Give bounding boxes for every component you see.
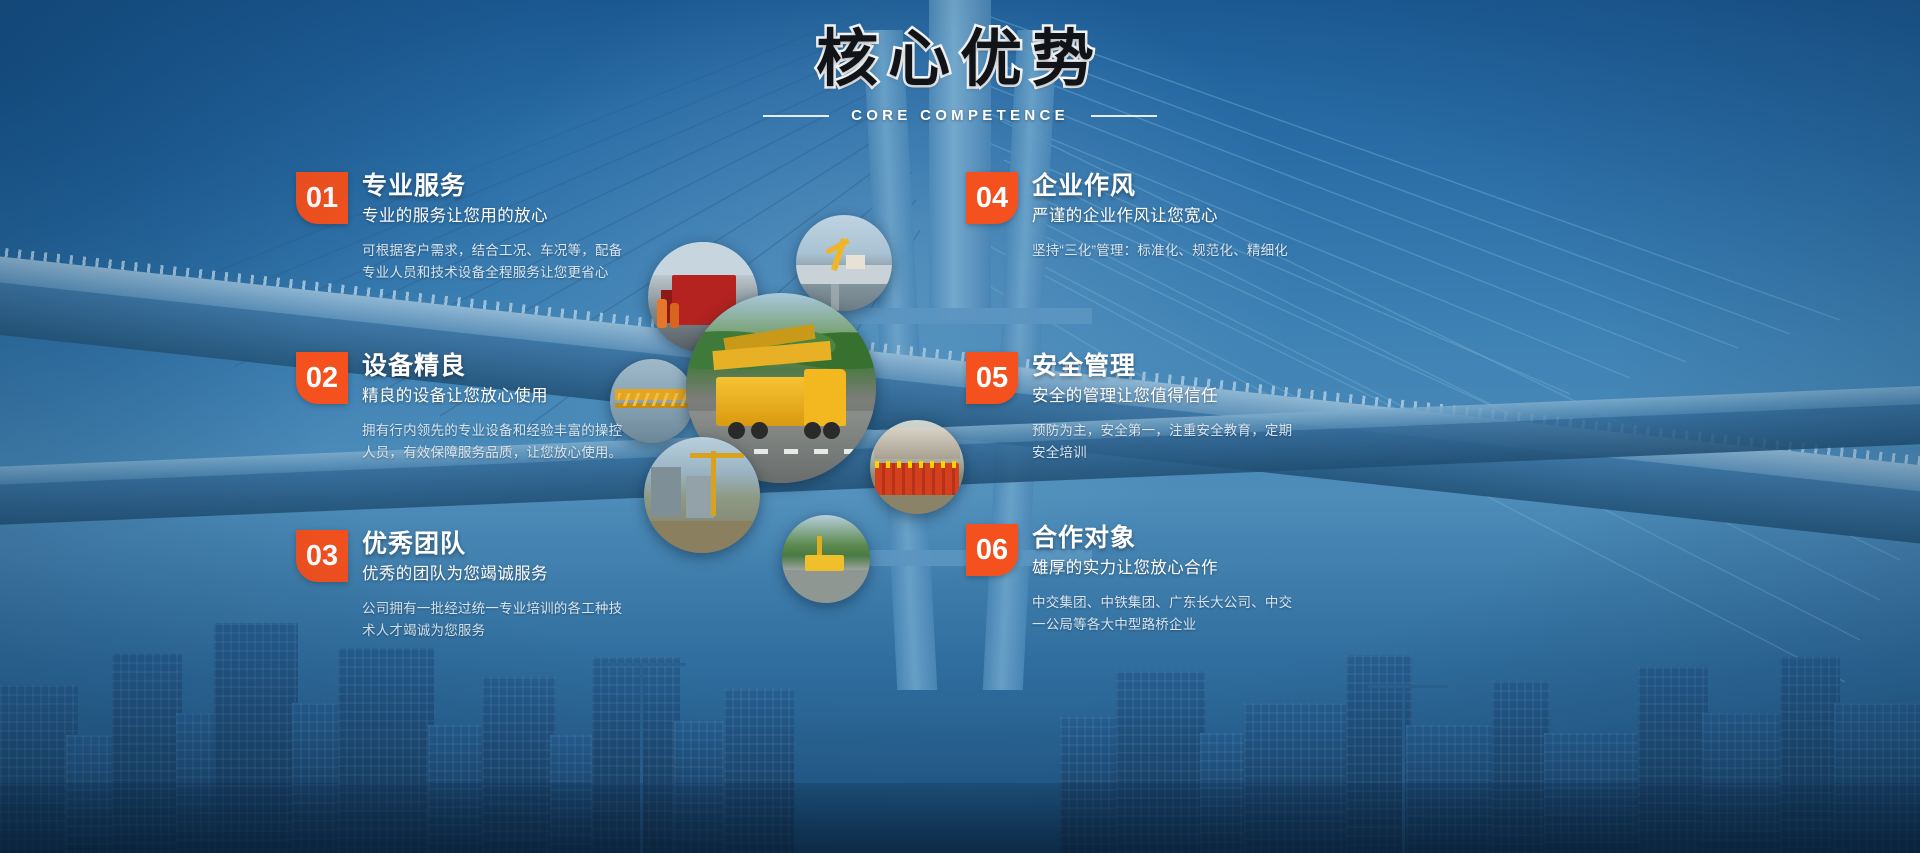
feature-item-01[interactable]: 01 专业服务 专业的服务让您用的放心 可根据客户需求，结合工况、车况等，配备专… [296,172,635,284]
feature-description: 可根据客户需求，结合工况、车况等，配备专业人员和技术设备全程服务让您更省心 [362,240,635,284]
feature-title: 优秀团队 [362,531,635,558]
feature-title: 合作对象 [1032,525,1305,552]
feature-item-04[interactable]: 04 企业作风 严谨的企业作风让您宽心 坚持“三化”管理：标准化、规范化、精细化 [966,172,1288,262]
feature-subtitle: 雄厚的实力让您放心合作 [1032,557,1305,579]
heading-block: 核心优势 CORE COMPETENCE [0,22,1920,124]
photo-construction-site [644,437,760,553]
feature-item-06[interactable]: 06 合作对象 雄厚的实力让您放心合作 中交集团、中铁集团、广东长大公司、中交一… [966,524,1305,636]
subtitle-row: CORE COMPETENCE [0,107,1920,124]
core-competence-banner: 核心优势 CORE COMPETENCE [0,0,1920,853]
feature-subtitle: 优秀的团队为您竭诚服务 [362,563,635,585]
photo-worker-team [870,420,964,514]
feature-number-badge: 06 [966,524,1018,576]
feature-subtitle: 精良的设备让您放心使用 [362,385,635,407]
feature-item-05[interactable]: 05 安全管理 安全的管理让您值得信任 预防为主，安全第一，注重安全教育，定期安… [966,352,1305,464]
feature-number-badge: 05 [966,352,1018,404]
feature-title: 设备精良 [362,353,635,380]
feature-description: 坚持“三化”管理：标准化、规范化、精细化 [1032,240,1288,262]
feature-item-02[interactable]: 02 设备精良 精良的设备让您放心使用 拥有行内领先的专业设备和经验丰富的操控人… [296,352,635,464]
photo-truck-on-bridge [782,515,870,603]
ground-shadow [0,783,1920,853]
feature-title: 安全管理 [1032,353,1305,380]
feature-subtitle: 专业的服务让您用的放心 [362,205,635,227]
feature-number-badge: 04 [966,172,1018,224]
feature-item-03[interactable]: 03 优秀团队 优秀的团队为您竭诚服务 公司拥有一批经过统一专业培训的各工种技术… [296,530,635,642]
feature-description: 预防为主，安全第一，注重安全教育，定期安全培训 [1032,420,1305,464]
feature-description: 公司拥有一批经过统一专业培训的各工种技术人才竭诚为您服务 [362,598,635,642]
subtitle-rule-right [1091,115,1157,117]
feature-subtitle: 严谨的企业作风让您宽心 [1032,205,1288,227]
photo-cluster [600,215,990,615]
feature-title: 专业服务 [362,173,635,200]
feature-number-badge: 01 [296,172,348,224]
feature-number-badge: 02 [296,352,348,404]
page-title: 核心优势 [0,22,1920,95]
feature-description: 拥有行内领先的专业设备和经验丰富的操控人员，有效保障服务品质，让您放心使用。 [362,420,635,464]
page-subtitle: CORE COMPETENCE [851,107,1069,124]
subtitle-rule-left [763,115,829,117]
feature-number-badge: 03 [296,530,348,582]
feature-subtitle: 安全的管理让您值得信任 [1032,385,1305,407]
feature-description: 中交集团、中铁集团、广东长大公司、中交一公局等各大中型路桥企业 [1032,592,1305,636]
feature-title: 企业作风 [1032,173,1288,200]
